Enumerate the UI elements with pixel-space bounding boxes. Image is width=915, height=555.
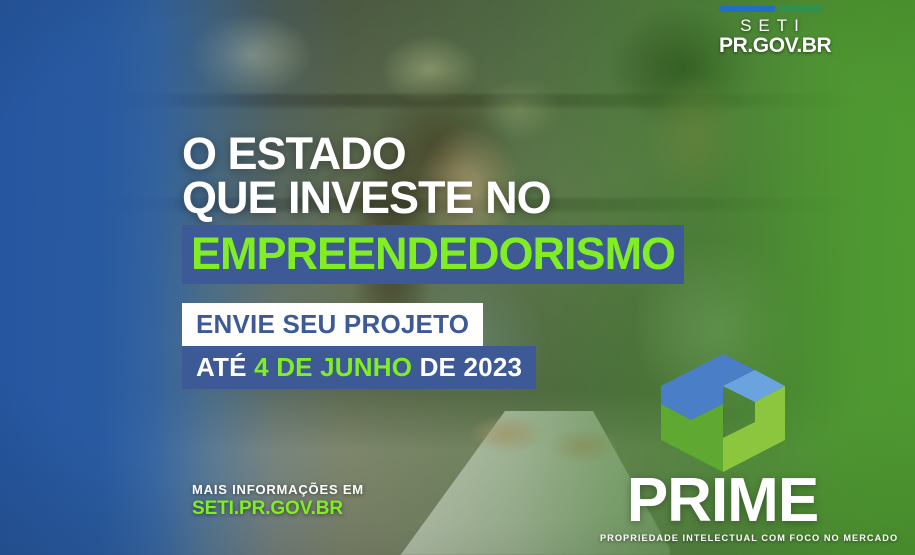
seti-wordmark: SETI — [719, 17, 821, 34]
prime-logo: PRIME PROPRIEDADE INTELECTUAL COM FOCO N… — [600, 352, 845, 543]
cta-line-1: ENVIE SEU PROJETO — [182, 303, 483, 346]
more-info-url[interactable]: SETI.PR.GOV.BR — [192, 498, 364, 521]
prime-tagline: PROPRIEDADE INTELECTUAL COM FOCO NO MERC… — [600, 533, 845, 543]
more-info-block: MAIS INFORMAÇÕES EM SETI.PR.GOV.BR — [192, 482, 364, 521]
headline-line-1: O ESTADO — [182, 132, 684, 176]
prime-wordmark: PRIME — [600, 476, 845, 526]
seti-logo: SETI PR.GOV.BR — [719, 6, 821, 58]
seti-bars — [719, 6, 821, 12]
headline-line-2: QUE INVESTE NO — [182, 176, 684, 220]
cta-suffix: DE 2023 — [412, 352, 522, 382]
campaign-poster: SETI PR.GOV.BR O ESTADO QUE INVESTE NO E… — [0, 0, 915, 555]
seti-url: PR.GOV.BR — [719, 34, 821, 58]
cta-deadline-date: 4 DE JUNHO — [254, 352, 412, 382]
cta-prefix: ATÉ — [196, 352, 254, 382]
seti-green-bar-icon — [779, 6, 821, 12]
headline-line-3-highlight: EMPREENDEDORISMO — [182, 225, 684, 284]
cta-block: ENVIE SEU PROJETO ATÉ 4 DE JUNHO DE 2023 — [182, 303, 536, 389]
seti-blue-bar-icon — [719, 6, 775, 12]
hexagon-cube-icon — [657, 352, 789, 474]
cta-line-2: ATÉ 4 DE JUNHO DE 2023 — [182, 346, 536, 389]
more-info-label: MAIS INFORMAÇÕES EM — [192, 482, 364, 498]
headline-block: O ESTADO QUE INVESTE NO EMPREENDEDORISMO — [182, 132, 684, 284]
